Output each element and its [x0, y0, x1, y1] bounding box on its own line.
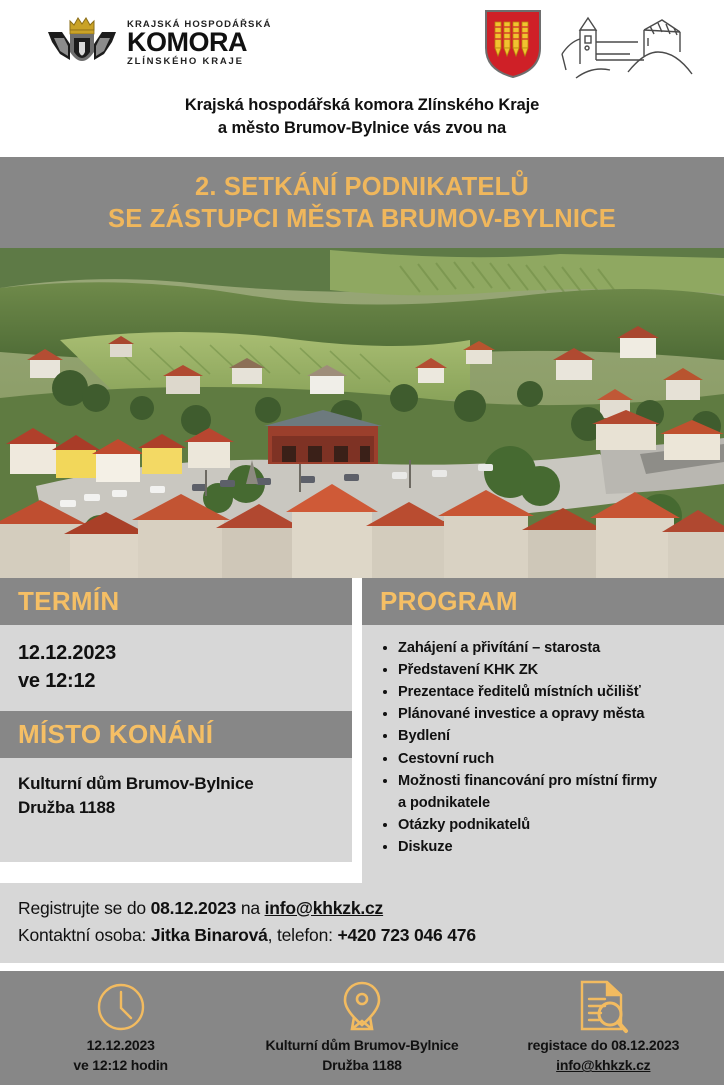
- termin-date: 12.12.2023: [18, 639, 334, 667]
- program-item-label: Představení KHK ZK: [398, 662, 538, 678]
- program-item-label: Bydlení: [398, 728, 450, 744]
- invite-line1: Krajská hospodářská komora Zlínského Kra…: [0, 94, 724, 117]
- brumov-castle-line-drawing-icon: [558, 8, 698, 87]
- footer-email-link[interactable]: info@khkzk.cz: [556, 1057, 650, 1073]
- program-item-label: Prezentace ředitelů místních učilišť: [398, 684, 641, 700]
- program-heading: PROGRAM: [362, 578, 724, 625]
- map-pin-icon: [339, 979, 385, 1035]
- footer-date-text: 12.12.2023 ve 12:12 hodin: [73, 1035, 167, 1076]
- registration-line2: Kontaktní osoba: Jitka Binarová, telefon…: [18, 922, 724, 949]
- divider: [0, 963, 724, 971]
- info-columns: TERMÍN 12.12.2023 ve 12:12 MÍSTO KONÁNÍ …: [0, 578, 724, 883]
- misto-heading: MÍSTO KONÁNÍ: [0, 711, 352, 758]
- khk-logo-wordmark: KRAJSKÁ HOSPODÁŘSKÁ KOMORA ZLÍNSKÉHO KRA…: [127, 20, 271, 67]
- poster: KRAJSKÁ HOSPODÁŘSKÁ KOMORA ZLÍNSKÉHO KRA…: [0, 0, 724, 1024]
- contact-phone: +420 723 046 476: [337, 925, 475, 945]
- left-column: TERMÍN 12.12.2023 ve 12:12 MÍSTO KONÁNÍ …: [0, 578, 352, 883]
- footer-cell-date: 12.12.2023 ve 12:12 hodin: [0, 979, 241, 1076]
- list-item: Představení KHK ZK: [398, 659, 710, 681]
- title-banner: 2. SETKÁNÍ PODNIKATELŮ SE ZÁSTUPCI MĚSTA…: [0, 157, 724, 248]
- khk-logo-line3: ZLÍNSKÉHO KRAJE: [127, 57, 271, 67]
- list-item: Zahájení a přivítání – starosta: [398, 637, 710, 659]
- misto-street: Družba 1188: [18, 796, 334, 820]
- footer-date-line2: ve 12:12 hodin: [73, 1055, 167, 1075]
- program-item-label: Otázky podnikatelů: [398, 817, 530, 833]
- registration-email-link[interactable]: info@khkzk.cz: [265, 898, 384, 918]
- footer-cell-venue: Kulturní dům Brumov-Bylnice Družba 1188: [241, 979, 482, 1076]
- bullet-icon: [383, 845, 387, 849]
- contact-mid: , telefon:: [268, 925, 338, 945]
- left-column-filler: [0, 836, 352, 862]
- logo-row: KRAJSKÁ HOSPODÁŘSKÁ KOMORA ZLÍNSKÉHO KRA…: [0, 0, 724, 88]
- title-line1: 2. SETKÁNÍ PODNIKATELŮ: [0, 171, 724, 204]
- footer-registration-text: registace do 08.12.2023 info@khkzk.cz: [527, 1035, 679, 1076]
- town-logo: [482, 8, 698, 87]
- list-item: Plánované investice a opravy města: [398, 703, 710, 725]
- bullet-icon: [383, 646, 387, 650]
- list-item: Bydlení: [398, 725, 710, 747]
- footer-registration-line1: registace do 08.12.2023: [527, 1035, 679, 1055]
- termin-time: ve 12:12: [18, 667, 334, 695]
- invite-line2: a město Brumov-Bylnice vás zvou na: [0, 117, 724, 140]
- footer-cell-registration: registace do 08.12.2023 info@khkzk.cz: [483, 979, 724, 1076]
- program-item-label: Zahájení a přivítání – starosta: [398, 640, 600, 656]
- footer-date-line1: 12.12.2023: [73, 1035, 167, 1055]
- footer-venue-line1: Kulturní dům Brumov-Bylnice: [266, 1035, 459, 1055]
- list-item: Cestovní ruch: [398, 748, 710, 770]
- khk-logo-line2: KOMORA: [127, 30, 271, 56]
- registration-strip: Registrujte se do 08.12.2023 na info@khk…: [0, 883, 724, 963]
- contact-prefix: Kontaktní osoba:: [18, 925, 151, 945]
- aerial-photo-brumov-bylnice: [0, 248, 724, 578]
- list-item-continuation: a podnikatele: [398, 792, 710, 814]
- program-item-label: Plánované investice a opravy města: [398, 706, 644, 722]
- registration-mid: na: [236, 898, 264, 918]
- termin-heading: TERMÍN: [0, 578, 352, 625]
- termin-body: 12.12.2023 ve 12:12: [0, 625, 352, 712]
- program-body: Zahájení a přivítání – starosta Představ…: [362, 625, 724, 883]
- footer: 12.12.2023 ve 12:12 hodin Kulturní dům B…: [0, 971, 724, 1085]
- misto-venue: Kulturní dům Brumov-Bylnice: [18, 772, 334, 796]
- registration-line1: Registrujte se do 08.12.2023 na info@khk…: [18, 895, 724, 922]
- footer-venue-line2: Družba 1188: [266, 1055, 459, 1075]
- registration-deadline: 08.12.2023: [151, 898, 237, 918]
- column-gutter: [352, 578, 362, 883]
- bullet-icon: [383, 734, 387, 738]
- bullet-icon: [383, 757, 387, 761]
- program-item-label: Diskuze: [398, 839, 452, 855]
- bullet-icon: [383, 823, 387, 827]
- brumov-bylnice-coat-of-arms-icon: [482, 8, 544, 85]
- right-column: PROGRAM Zahájení a přivítání – starosta …: [362, 578, 724, 883]
- program-item-label: a podnikatele: [398, 795, 490, 811]
- footer-venue-text: Kulturní dům Brumov-Bylnice Družba 1188: [266, 1035, 459, 1076]
- list-item: Otázky podnikatelů: [398, 814, 710, 836]
- program-list: Zahájení a přivítání – starosta Představ…: [370, 637, 710, 859]
- khk-crown-emblem-icon: [46, 12, 118, 74]
- bullet-icon: [383, 690, 387, 694]
- document-search-icon: [577, 979, 629, 1035]
- list-item: Prezentace ředitelů místních učilišť: [398, 681, 710, 703]
- title-line2: SE ZÁSTUPCI MĚSTA BRUMOV-BYLNICE: [0, 203, 724, 236]
- invite-text: Krajská hospodářská komora Zlínského Kra…: [0, 88, 724, 157]
- bullet-icon: [383, 668, 387, 672]
- list-item: Diskuze: [398, 836, 710, 858]
- footer-registration-email[interactable]: info@khkzk.cz: [527, 1055, 679, 1075]
- misto-body: Kulturní dům Brumov-Bylnice Družba 1188: [0, 758, 352, 836]
- program-item-label: Možnosti financování pro místní firmy: [398, 773, 657, 789]
- bullet-icon: [383, 712, 387, 716]
- list-item: Možnosti financování pro místní firmy: [398, 770, 710, 792]
- bullet-icon: [383, 779, 387, 783]
- program-item-label: Cestovní ruch: [398, 751, 494, 767]
- contact-name: Jitka Binarová: [151, 925, 268, 945]
- khk-logo: KRAJSKÁ HOSPODÁŘSKÁ KOMORA ZLÍNSKÉHO KRA…: [46, 12, 271, 74]
- clock-icon: [95, 979, 147, 1035]
- registration-prefix: Registrujte se do: [18, 898, 151, 918]
